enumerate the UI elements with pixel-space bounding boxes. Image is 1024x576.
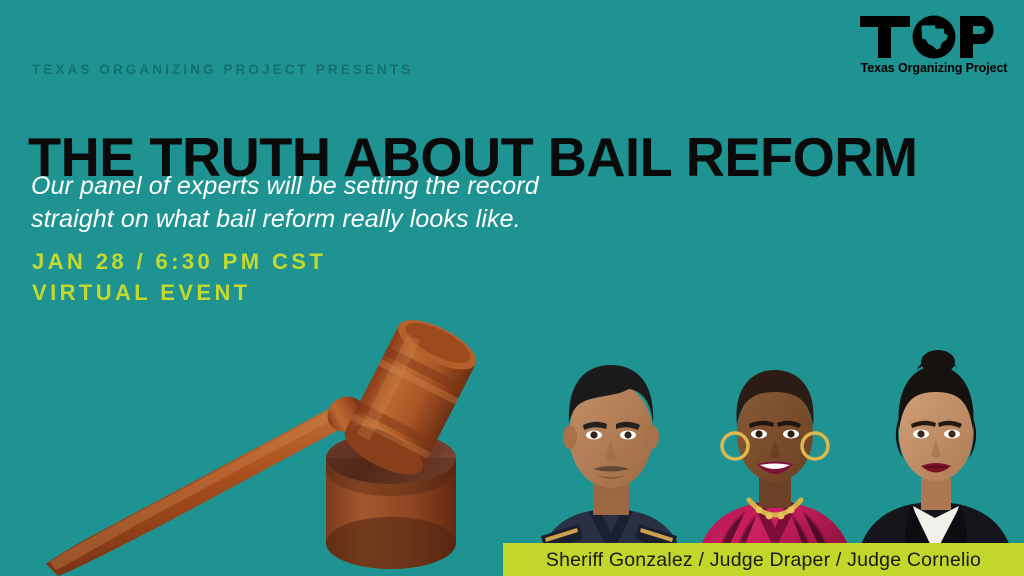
- panelist-photo-judge-draper: [687, 338, 862, 576]
- logo-subtitle: Texas Organizing Project: [858, 61, 1010, 75]
- top-logo-mark: [858, 14, 1010, 60]
- top-logo: Texas Organizing Project: [858, 14, 1010, 75]
- panelist-caption-text: Sheriff Gonzalez / Judge Draper / Judge …: [503, 549, 1024, 572]
- description-line-2: straight on what bail reform really look…: [31, 203, 711, 236]
- description-line-1: Our panel of experts will be setting the…: [31, 170, 711, 203]
- gavel-handle: [46, 390, 371, 576]
- panelist-photo-judge-cornelio: [847, 336, 1024, 576]
- panelist-caption-bar: Sheriff Gonzalez / Judge Draper / Judge …: [503, 543, 1024, 576]
- description-text: Our panel of experts will be setting the…: [31, 170, 711, 237]
- panelist-photo-group: [505, 318, 1024, 576]
- panelist-photo-sheriff-gonzalez: [519, 331, 704, 576]
- event-datetime: JAN 28 / 6:30 PM CST: [32, 246, 326, 277]
- event-promo-poster: Texas Organizing Project TEXAS ORGANIZIN…: [0, 0, 1024, 576]
- kicker-text: TEXAS ORGANIZING PROJECT PRESENTS: [32, 62, 413, 77]
- gavel-illustration: [38, 296, 508, 576]
